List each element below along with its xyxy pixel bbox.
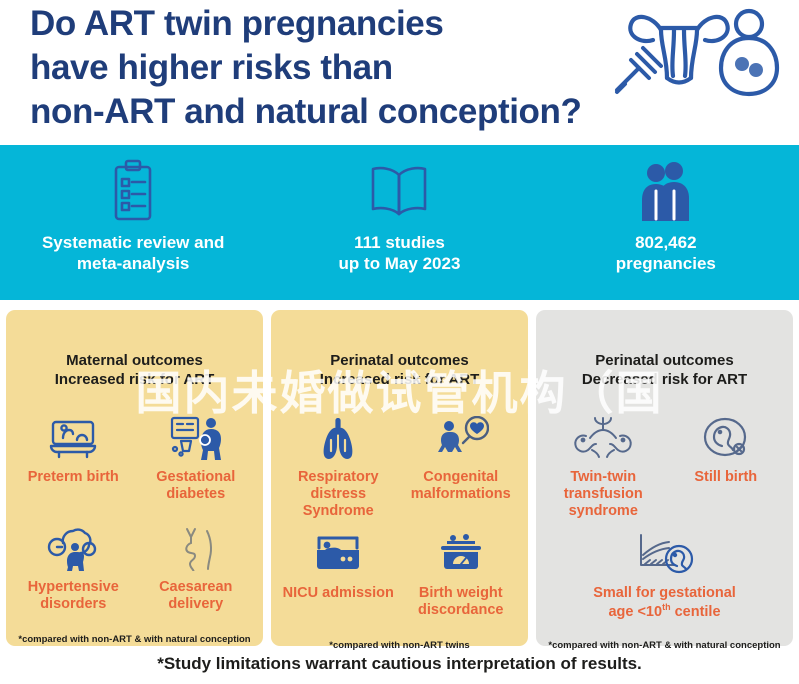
pregnant-woman-twins-icon [721, 11, 777, 94]
panel-outcome-grid: Respiratory distress Syndrome [277, 414, 522, 640]
outcome-label: Small for gestationalage <10th centile [593, 585, 736, 621]
outcome-gestational-diabetes: Gestational diabetes [135, 414, 258, 514]
caesarean-delivery-icon [171, 524, 221, 572]
study-limitations-note: *Study limitations warrant cautious inte… [157, 654, 642, 674]
birth-weight-scale-icon [435, 530, 487, 578]
outcome-small-for-gestational-age: Small for gestationalage <10th centile [542, 530, 787, 630]
nicu-incubator-icon [311, 530, 365, 578]
outcome-label: NICU admission [283, 585, 394, 602]
outcome-respiratory-distress-syndrome: Respiratory distress Syndrome [277, 414, 400, 520]
panel-footnote: *compared with non-ART twins [277, 640, 522, 655]
stat-studies-count: 111 studies up to May 2023 [268, 155, 532, 274]
panel-footnote: *compared with non-ART & with natural co… [542, 640, 787, 655]
outcome-nicu-admission: NICU admission [277, 530, 400, 630]
two-people-icon [636, 155, 696, 227]
outcome-label: Hypertensive disorders [28, 579, 119, 613]
outcome-label: Birth weight discordance [418, 585, 503, 619]
stat-label: Systematic review and meta-analysis [42, 233, 224, 274]
syringe-icon [617, 48, 661, 92]
congenital-malformations-icon [433, 414, 489, 462]
outcome-congenital-malformations: Congenital malformations [400, 414, 523, 520]
panel-footnote: *compared with non-ART & with natural co… [12, 634, 257, 649]
preterm-birth-incubator-icon [47, 414, 99, 462]
stat-systematic-review: Systematic review and meta-analysis [1, 155, 265, 274]
outcome-label: Caesarean delivery [159, 579, 232, 613]
lungs-icon [312, 414, 364, 462]
panel-perinatal-decreased: Perinatal outcomes Decreased risk for AR… [536, 310, 793, 646]
outcome-panels: Maternal outcomes Increased risk for ART [0, 300, 799, 646]
growth-chart-fetus-icon [629, 530, 701, 578]
outcome-twin-twin-transfusion-syndrome: Twin-twin transfusion syndrome [542, 414, 665, 520]
hypertensive-disorders-icon [45, 524, 101, 572]
stats-band: Systematic review and meta-analysis 111 … [0, 145, 799, 300]
outcome-birth-weight-discordance: Birth weight discordance [400, 530, 523, 630]
outcome-label: Congenital malformations [411, 469, 511, 503]
panel-outcome-grid: Preterm birth [12, 414, 257, 634]
panel-maternal-outcomes: Maternal outcomes Increased risk for ART [6, 310, 263, 646]
twin-twin-transfusion-icon [570, 414, 636, 462]
stat-label: 802,462 pregnancies [616, 233, 716, 274]
panel-outcome-grid: Twin-twin transfusion syndrome [542, 414, 787, 640]
page-title: Do ART twin pregnancies have higher risk… [30, 2, 600, 134]
panel-title: Maternal outcomes Increased risk for ART [12, 352, 257, 392]
stat-label: 111 studies up to May 2023 [339, 233, 461, 274]
header-section: Do ART twin pregnancies have higher risk… [0, 0, 799, 145]
outcome-preterm-birth: Preterm birth [12, 414, 135, 514]
panel-perinatal-increased: Perinatal outcomes Increased risk for AR… [271, 310, 528, 646]
outcome-label: Twin-twin transfusion syndrome [564, 469, 643, 520]
outcome-label: Gestational diabetes [156, 469, 235, 503]
outcome-label: Respiratory distress Syndrome [279, 469, 398, 520]
clipboard-checklist-icon [110, 155, 156, 227]
stat-pregnancies-count: 802,462 pregnancies [534, 155, 798, 274]
still-birth-icon [700, 414, 752, 462]
outcome-still-birth: Still birth [665, 414, 788, 520]
gestational-diabetes-icon [169, 414, 223, 462]
panel-title: Perinatal outcomes Decreased risk for AR… [542, 352, 787, 392]
open-book-icon [368, 155, 430, 227]
header-icon-group [605, 6, 785, 101]
outcome-caesarean-delivery: Caesarean delivery [135, 524, 258, 624]
outcome-hypertensive-disorders: Hypertensive disorders [12, 524, 135, 624]
panel-title: Perinatal outcomes Increased risk for AR… [277, 352, 522, 392]
outcome-label: Still birth [694, 469, 757, 486]
outcome-label: Preterm birth [28, 469, 119, 486]
